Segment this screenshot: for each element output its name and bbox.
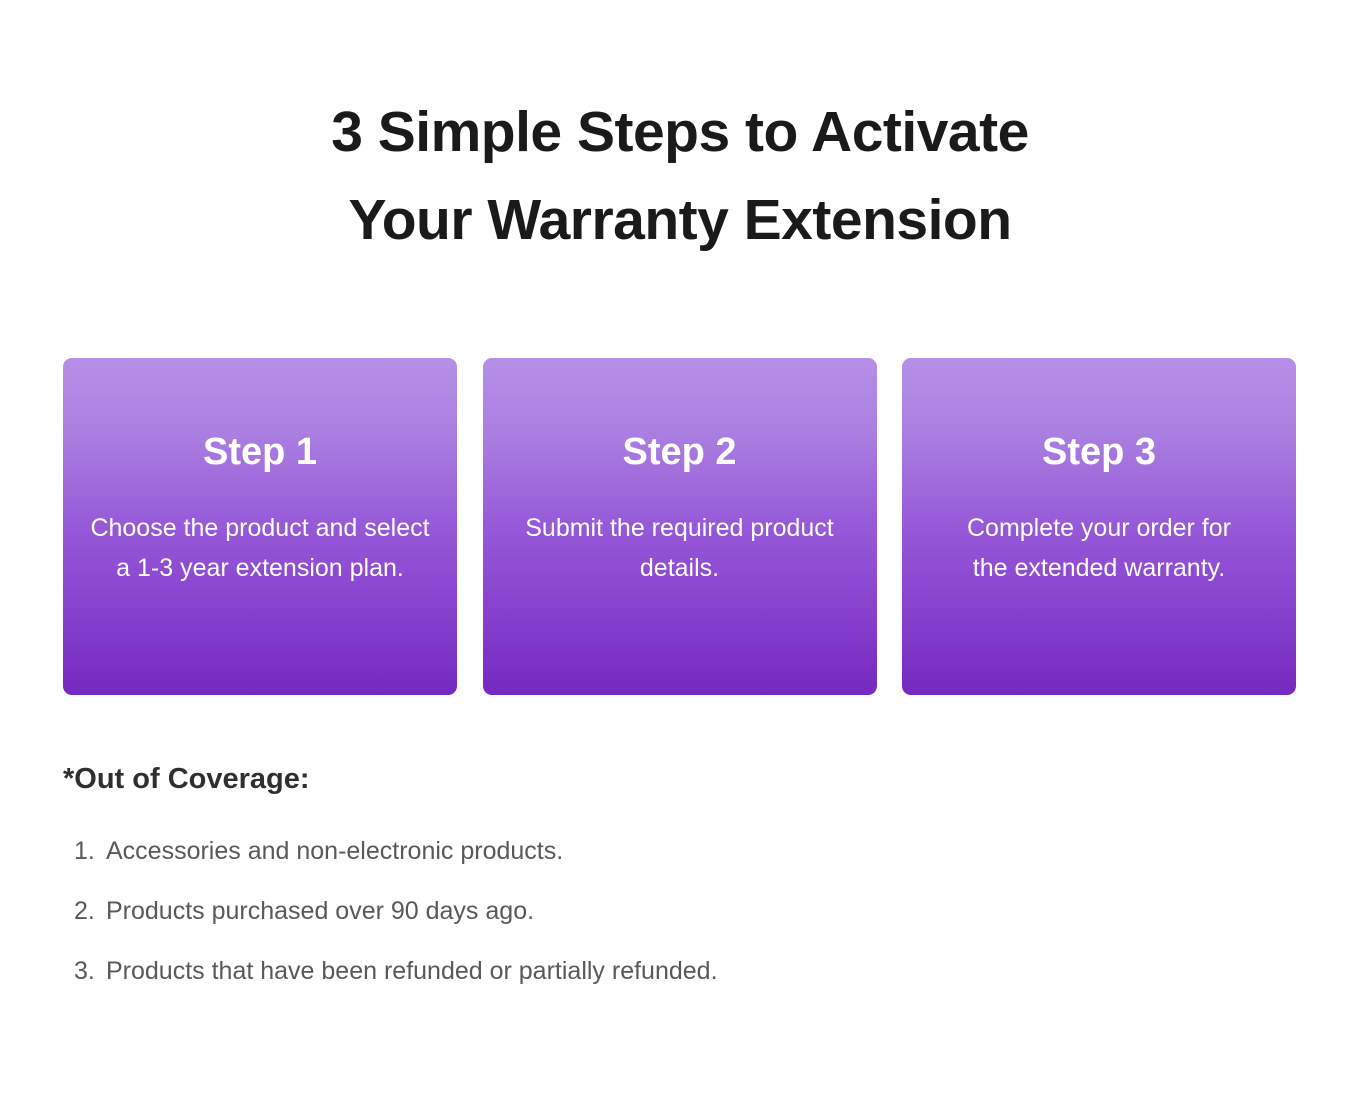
out-of-coverage-section: *Out of Coverage: 1. Accessories and non…	[63, 762, 1296, 1019]
list-item-label: Accessories and non-electronic products.	[106, 839, 563, 864]
step-card-1-title: Step 1	[203, 433, 317, 471]
list-item-label: Products purchased over 90 days ago.	[106, 899, 534, 924]
steps-row: Step 1 Choose the product and select a 1…	[63, 358, 1296, 695]
step-card-3-title: Step 3	[1042, 433, 1156, 471]
step-card-3-description: Complete your order for the extended war…	[949, 509, 1249, 588]
step-card-2-description: Submit the required product details.	[510, 509, 850, 588]
list-item-number: 3.	[63, 959, 106, 984]
step-card-2-title: Step 2	[622, 433, 736, 471]
out-of-coverage-title: *Out of Coverage:	[63, 762, 1296, 797]
step-card-3: Step 3 Complete your order for the exten…	[902, 358, 1296, 695]
page-title: 3 Simple Steps to Activate Your Warranty…	[0, 0, 1360, 265]
list-item-number: 2.	[63, 899, 106, 924]
list-item-number: 1.	[63, 839, 106, 864]
list-item: 1. Accessories and non-electronic produc…	[63, 839, 1296, 864]
step-card-1: Step 1 Choose the product and select a 1…	[63, 358, 457, 695]
list-item-label: Products that have been refunded or part…	[106, 959, 718, 984]
warranty-steps-page: 3 Simple Steps to Activate Your Warranty…	[0, 0, 1360, 1096]
list-item: 3. Products that have been refunded or p…	[63, 959, 1296, 984]
page-title-line-2: Your Warranty Extension	[100, 176, 1260, 264]
step-card-2: Step 2 Submit the required product detai…	[483, 358, 877, 695]
page-title-line-1: 3 Simple Steps to Activate	[100, 88, 1260, 176]
out-of-coverage-list: 1. Accessories and non-electronic produc…	[63, 839, 1296, 984]
list-item: 2. Products purchased over 90 days ago.	[63, 899, 1296, 924]
step-card-1-description: Choose the product and select a 1-3 year…	[90, 509, 430, 588]
